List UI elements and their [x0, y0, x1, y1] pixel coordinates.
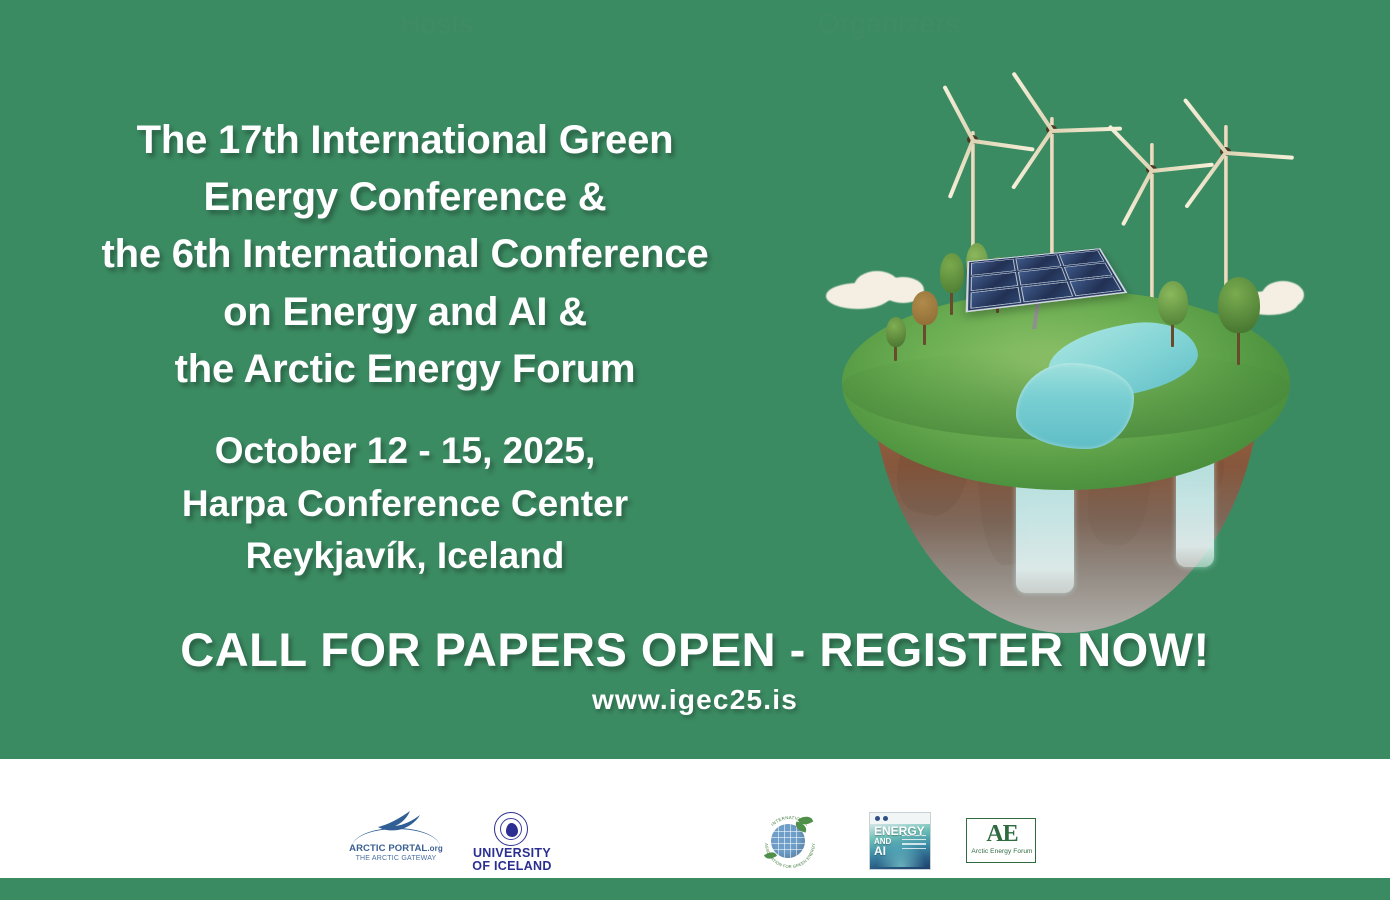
journal-title-line-1: ENERGY [874, 824, 925, 838]
floating-island-illustration [820, 95, 1320, 615]
title-line-1: The 17th International Green [0, 112, 810, 169]
university-name-line-2: OF ICELAND [462, 859, 562, 873]
event-venue: Harpa Conference Center [0, 478, 810, 531]
tree-1 [912, 291, 938, 345]
university-name-line-1: UNIVERSITY [462, 846, 562, 860]
call-for-papers-headline: CALL FOR PAPERS OPEN - REGISTER NOW! [0, 622, 1390, 677]
tree-6 [1218, 277, 1260, 365]
footer-bottom-strip [0, 878, 1390, 900]
logo-energy-and-ai-journal[interactable]: ENERGY AND AI [869, 812, 931, 870]
university-seal-icon [494, 812, 528, 846]
logo-arctic-energy-forum[interactable]: AE Arctic Energy Forum [966, 818, 1036, 863]
journal-title: ENERGY AND AI [874, 826, 925, 857]
title-line-4: on Energy and AI & [0, 284, 810, 341]
title-line-2: Energy Conference & [0, 169, 810, 226]
event-city: Reykjavík, Iceland [0, 530, 810, 583]
journal-title-line-3: AI [874, 846, 925, 858]
title-line-5: the Arctic Energy Forum [0, 341, 810, 398]
event-dates: October 12 - 15, 2025, [0, 425, 810, 478]
logo-university-of-iceland[interactable]: UNIVERSITY OF ICELAND [462, 812, 562, 868]
journal-header-band [870, 813, 930, 824]
event-details: October 12 - 15, 2025, Harpa Conference … [0, 425, 810, 583]
arctic-portal-wordmark: ARCTIC PORTAL [349, 843, 427, 854]
tree-5 [1158, 281, 1188, 347]
title-line-3: the 6th International Conference [0, 226, 810, 283]
sponsor-footer [0, 759, 1390, 878]
aef-caption: Arctic Energy Forum [967, 848, 1037, 855]
logo-arctic-portal[interactable]: ARCTIC PORTAL.org THE ARCTIC GATEWAY [348, 810, 444, 868]
tree-2 [940, 253, 964, 315]
tree-7 [886, 317, 906, 361]
page-title: The 17th International Green Energy Conf… [0, 112, 810, 398]
organizers-heading: Organizers [818, 8, 960, 40]
logo-international-association-for-green-energy[interactable]: INTERNATIONAL ASSOCIATION FOR GREEN ENER… [757, 812, 823, 870]
website-url[interactable]: www.igec25.is [0, 684, 1390, 716]
logo-arctic-portal-name: ARCTIC PORTAL.org [348, 843, 444, 854]
logo-arctic-portal-tagline: THE ARCTIC GATEWAY [348, 855, 444, 862]
aef-monogram: AE [967, 822, 1037, 846]
river-lower [1016, 363, 1134, 449]
conference-poster: The 17th International Green Energy Conf… [0, 0, 1390, 900]
arctic-portal-tld: .org [427, 844, 443, 853]
hosts-heading: Hosts [400, 8, 474, 40]
